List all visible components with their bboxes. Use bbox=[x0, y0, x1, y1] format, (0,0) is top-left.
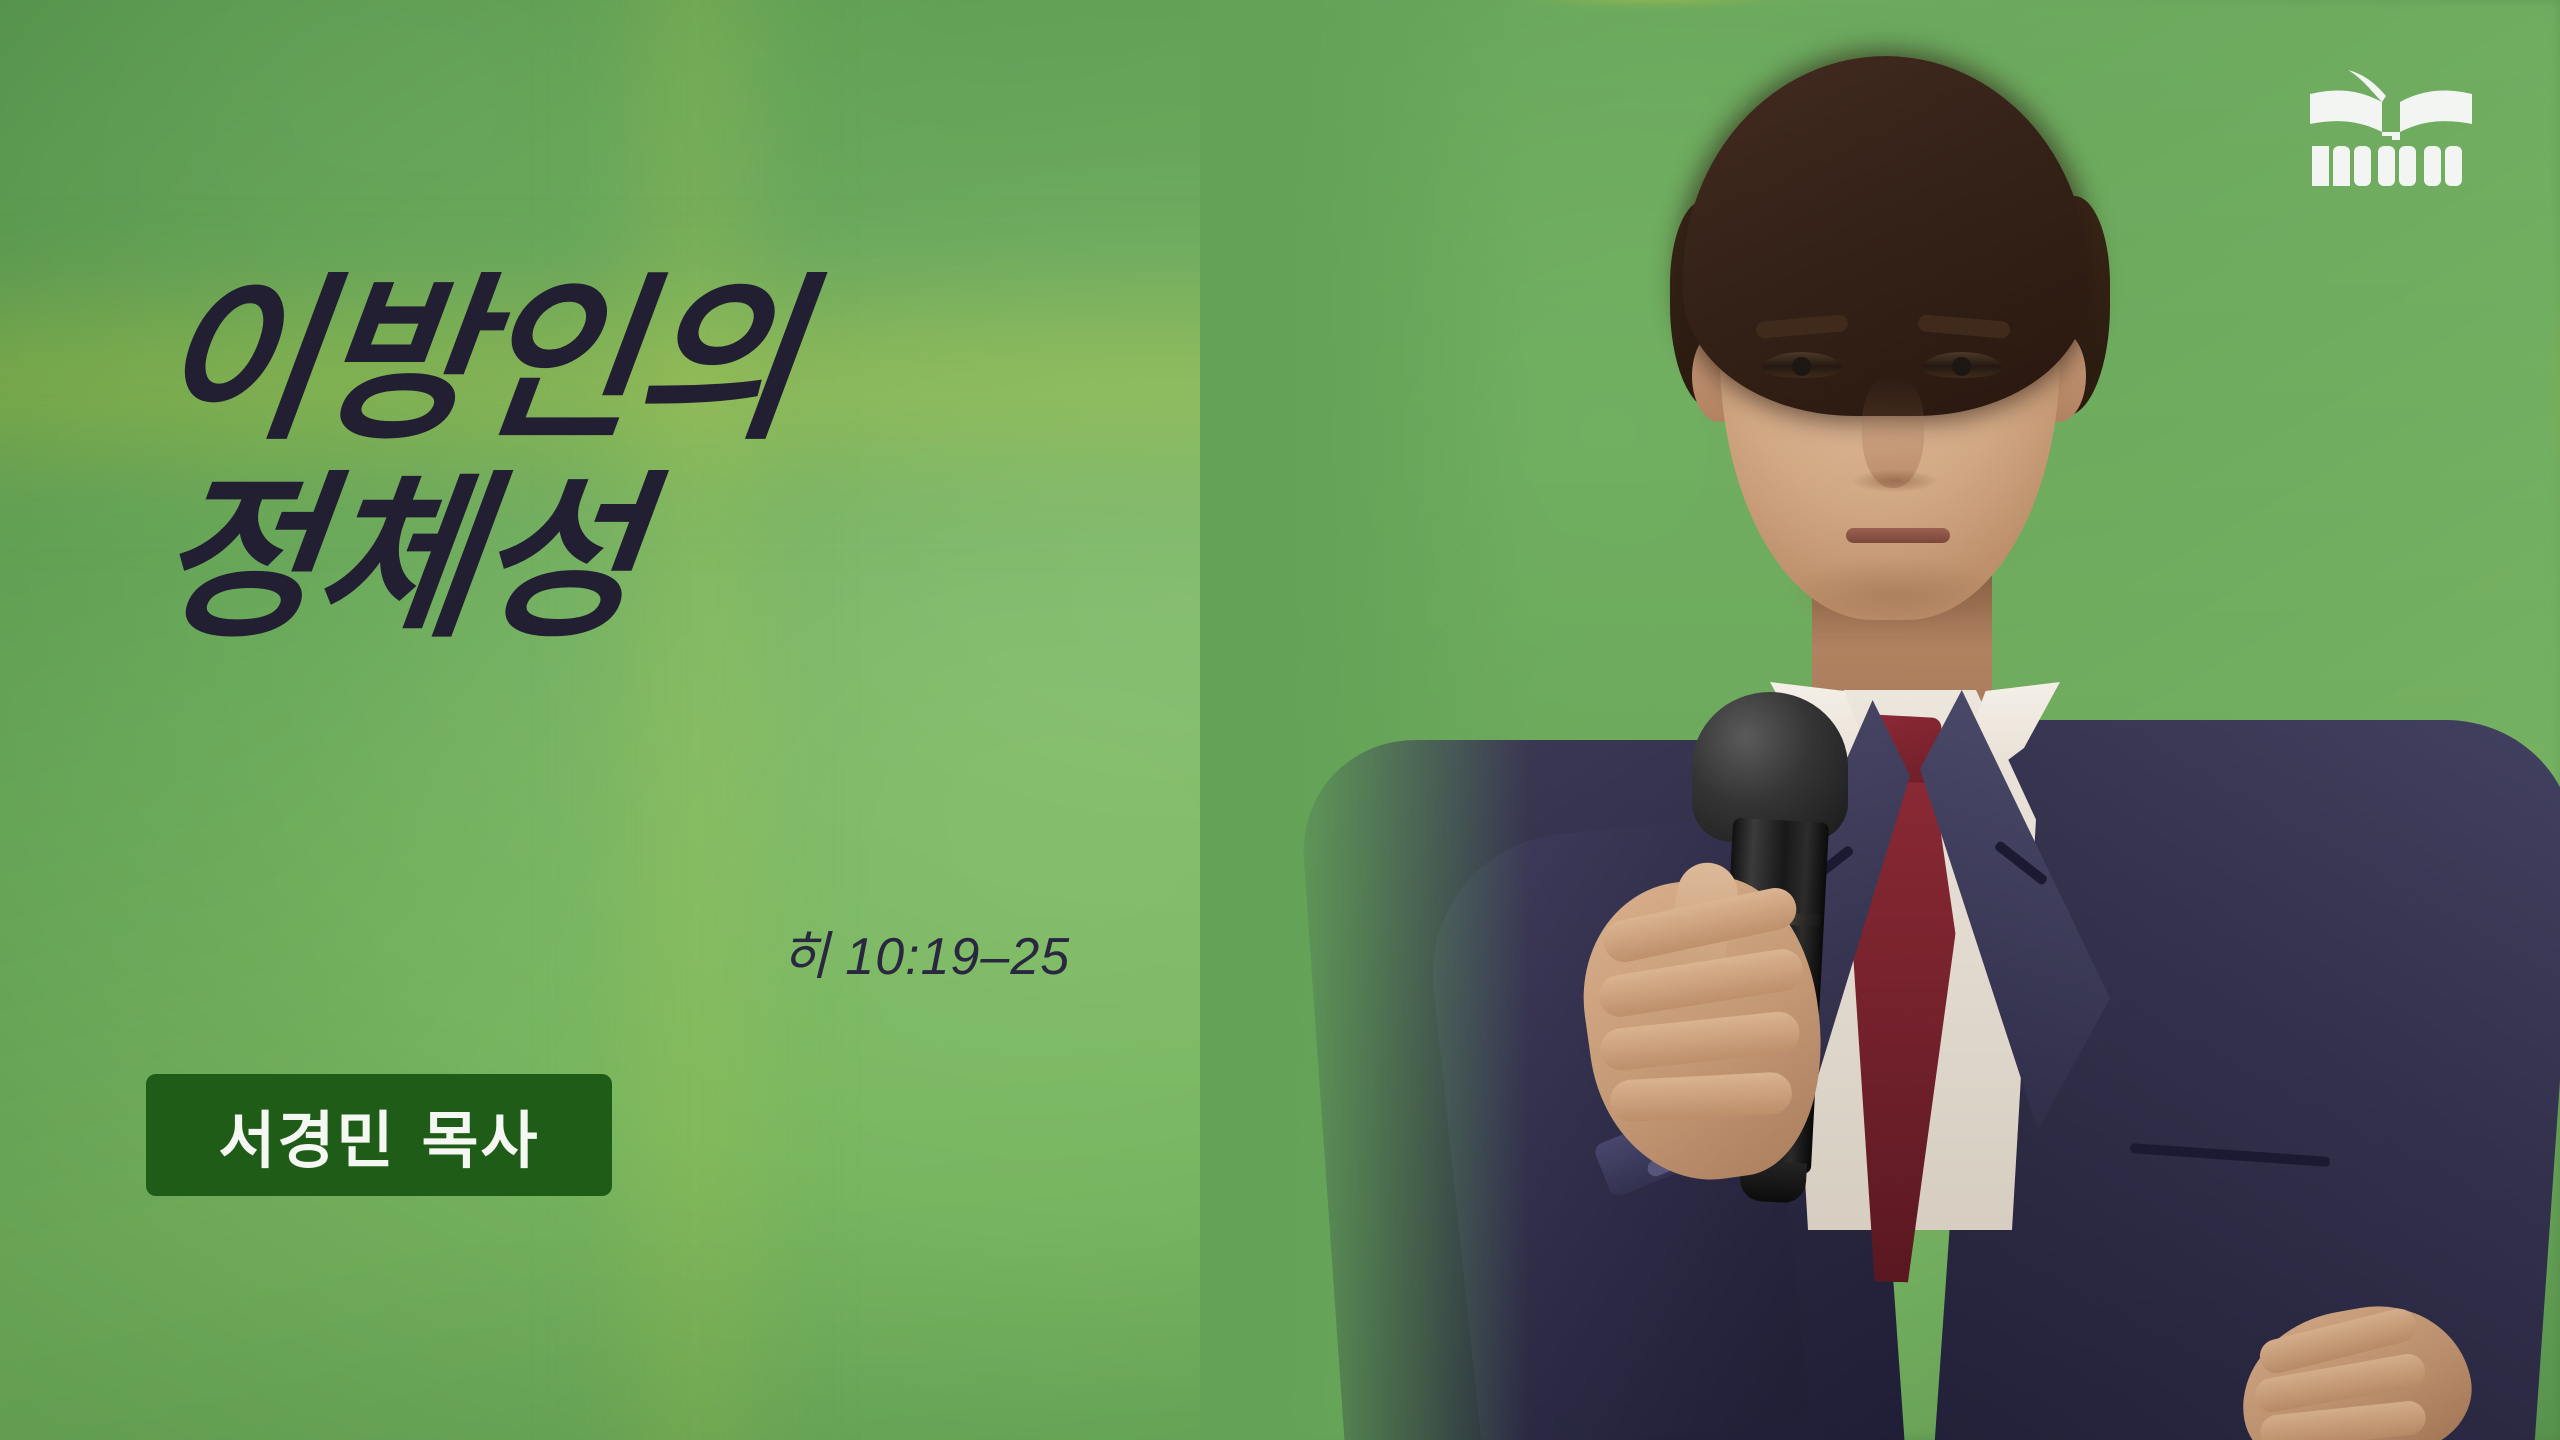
sermon-title-slide: 이방인의 정체성 히 10:19–25 서경민목사 bbox=[0, 0, 2560, 1440]
speaker-title: 목사 bbox=[422, 1107, 540, 1176]
eye-right bbox=[1922, 352, 2002, 378]
speaker-name: 서경민 bbox=[218, 1107, 395, 1176]
scripture-reference: 히 10:19–25 bbox=[781, 914, 1070, 989]
mouth bbox=[1846, 528, 1950, 543]
sermon-title: 이방인의 정체성 bbox=[146, 272, 785, 648]
speaker-badge: 서경민목사 bbox=[146, 1074, 612, 1196]
chin-shadow bbox=[1784, 556, 2006, 632]
speaker-badge-label: 서경민목사 bbox=[218, 1090, 539, 1180]
photo-subject bbox=[1200, 0, 2560, 1440]
hair bbox=[1683, 56, 2088, 416]
speaker-photo bbox=[1200, 0, 2560, 1440]
title-line-2: 정체성 bbox=[146, 470, 807, 648]
title-line-1: 이방인의 bbox=[146, 272, 807, 450]
nose-shadow bbox=[1852, 470, 1938, 492]
eye-left bbox=[1762, 352, 1842, 378]
wmu-logo bbox=[2306, 58, 2476, 188]
